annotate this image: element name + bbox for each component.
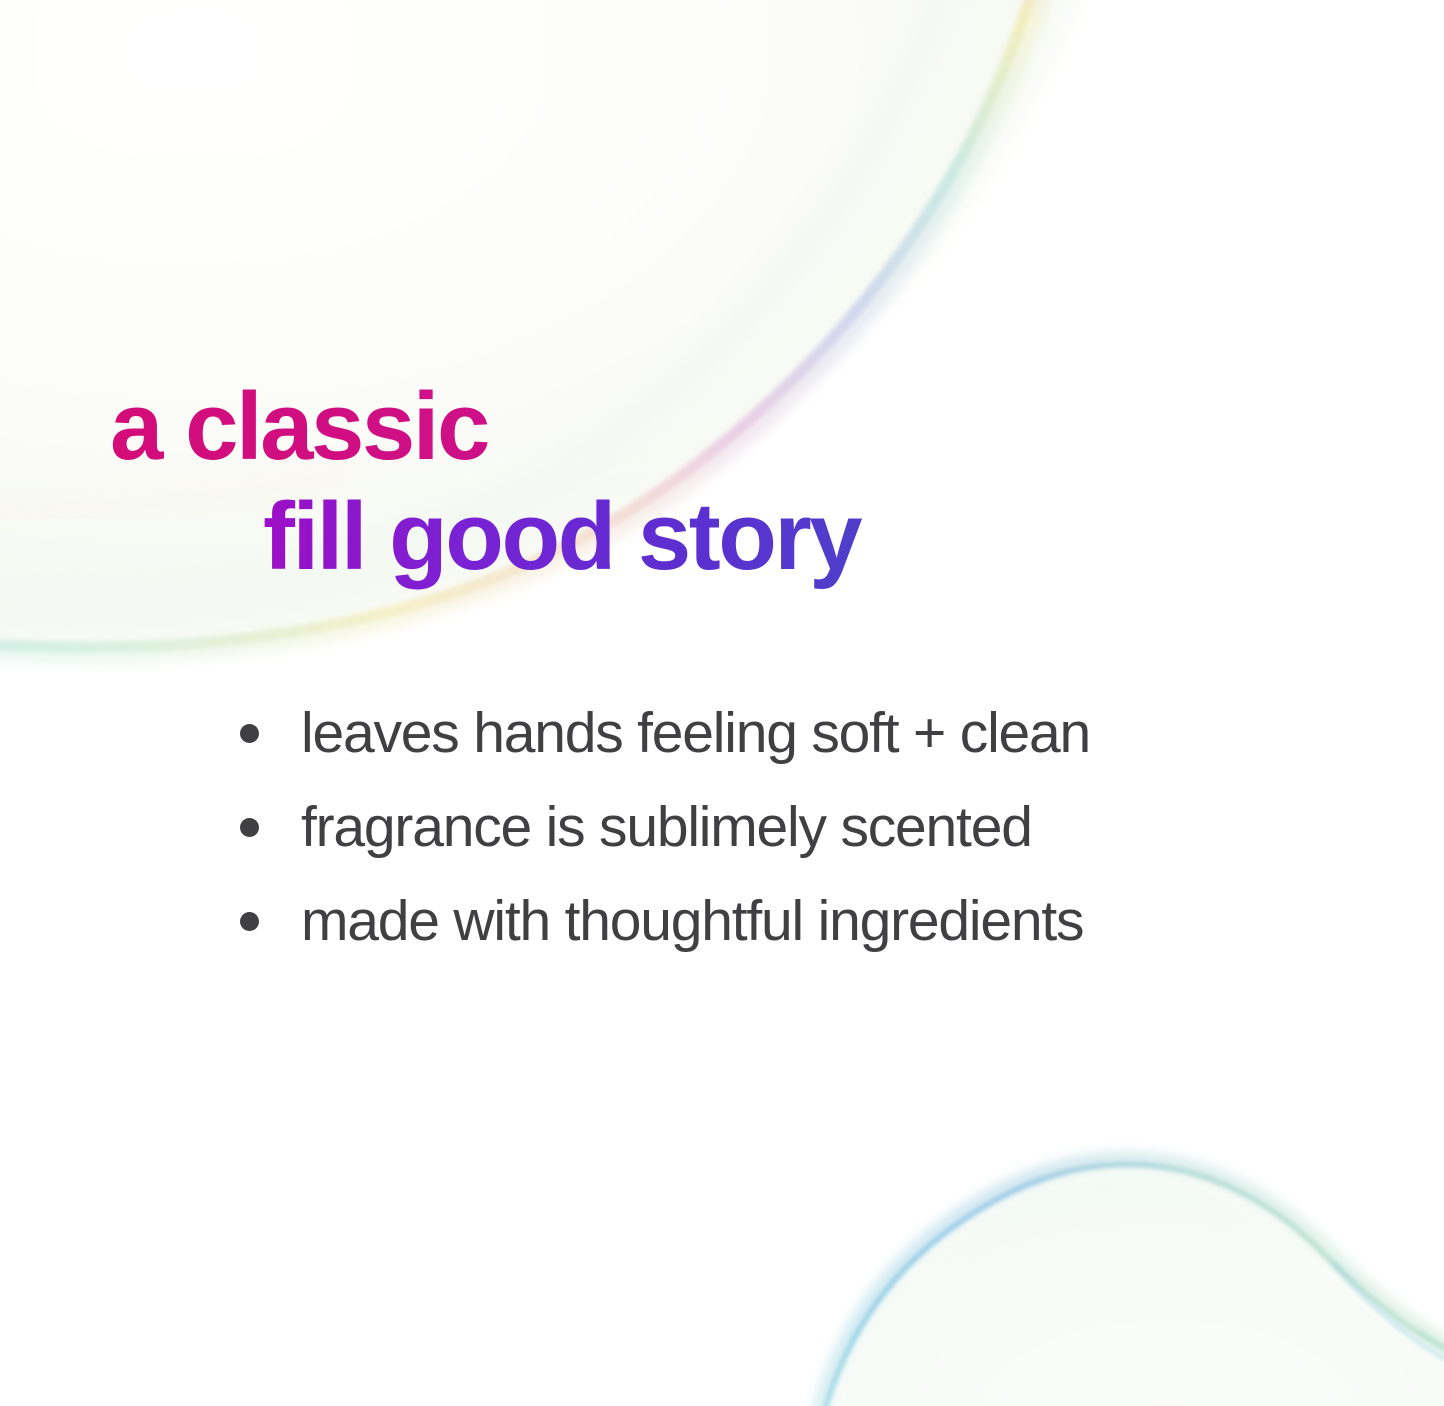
bullet-dot-icon: [240, 724, 259, 743]
list-item: fragrance is sublimely scented: [240, 780, 1090, 874]
benefit-label: made with thoughtful ingredients: [301, 893, 1083, 950]
benefit-label: leaves hands feeling soft + clean: [301, 705, 1090, 762]
bullet-dot-icon: [240, 818, 259, 837]
soap-bubble-bottom-right-group: [802, 1158, 1444, 1406]
headline-line-2: fill good story: [263, 482, 1444, 592]
benefit-label: fragrance is sublimely scented: [301, 799, 1032, 856]
bullet-dot-icon: [240, 912, 259, 931]
list-item: leaves hands feeling soft + clean: [240, 686, 1090, 780]
headline: a classic fill good story: [0, 372, 1444, 592]
list-item: made with thoughtful ingredients: [240, 874, 1090, 968]
promo-graphic: a classic fill good story leaves hands f…: [0, 0, 1444, 1406]
headline-line-1: a classic: [110, 372, 1444, 482]
benefits-list: leaves hands feeling soft + clean fragra…: [240, 686, 1090, 968]
